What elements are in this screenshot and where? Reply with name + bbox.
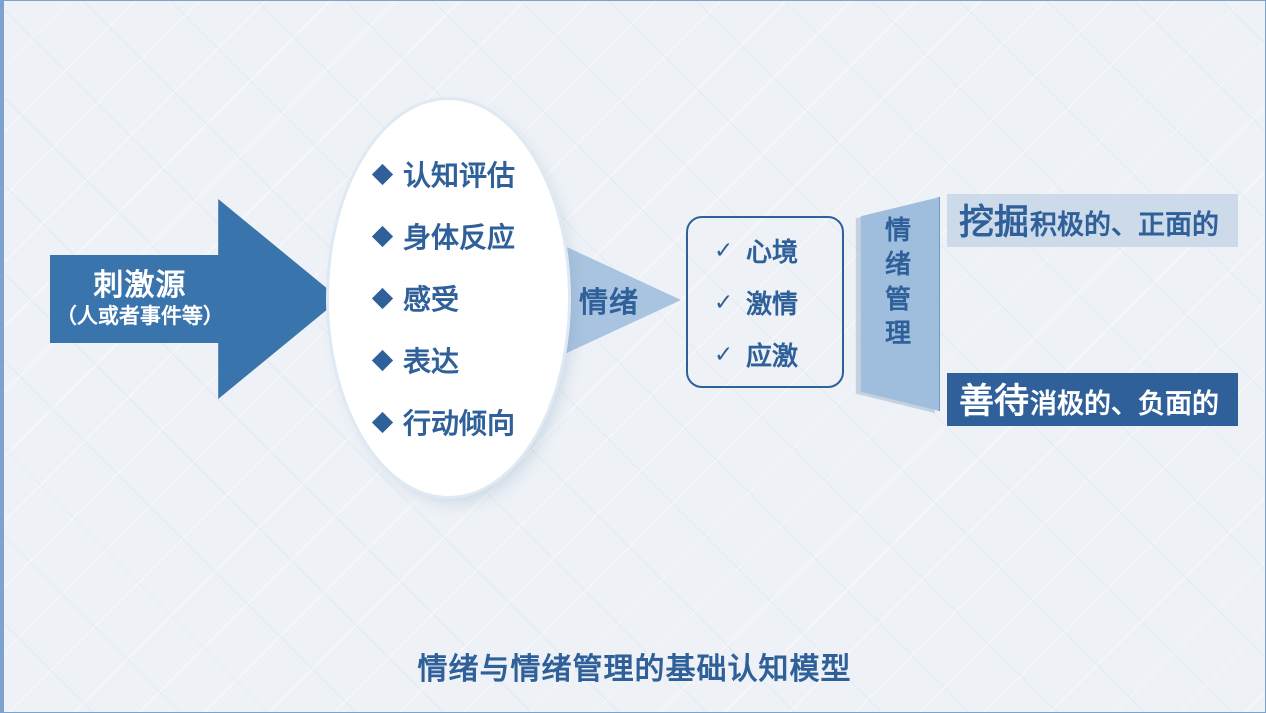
check-icon: ✓ [714,237,736,264]
component-label: 表达 [403,340,459,380]
stimulus-source-text: 刺激源 （人或者事件等） [50,268,230,330]
management-char: 情 [876,213,920,247]
diamond-bullet-icon [372,225,393,246]
positive-outcome-text: 积极的、正面的 [1030,203,1219,242]
negative-outcome-box: 善待 消极的、负面的 [947,373,1238,426]
emotion-type-label: 应激 [746,336,798,373]
emotion-types-list: ✓ 心境 ✓ 激情 ✓ 应激 [688,224,842,380]
emotion-management-label: 情 绪 管 理 [876,213,920,350]
positive-outcome-lead: 挖掘 [959,194,1029,245]
component-label: 身体反应 [403,216,515,256]
slide-canvas: 刺激源 （人或者事件等） 情绪 认知评估 身体反应 感受 表达 [0,0,1266,713]
diamond-bullet-icon [372,349,393,370]
negative-outcome-text: 消极的、负面的 [1030,382,1219,421]
diamond-bullet-icon [372,163,393,184]
list-item: ✓ 心境 [688,224,842,276]
emotion-types-box: ✓ 心境 ✓ 激情 ✓ 应激 [686,216,844,388]
stimulus-source-arrow: 刺激源 （人或者事件等） [50,199,340,399]
emotion-label: 情绪 [579,279,639,321]
list-item: ✓ 应激 [688,328,842,380]
stimulus-source-subtitle: （人或者事件等） [50,305,230,330]
emotion-components-ellipse: 认知评估 身体反应 感受 表达 行动倾向 [331,102,566,494]
list-item: 身体反应 [331,205,566,267]
check-icon: ✓ [714,289,736,316]
list-item: 感受 [331,267,566,329]
stimulus-source-title: 刺激源 [50,268,230,303]
list-item: ✓ 激情 [688,276,842,328]
component-label: 行动倾向 [403,402,515,442]
management-char: 理 [876,316,920,350]
emotion-type-label: 激情 [746,284,798,321]
management-char: 绪 [876,247,920,281]
check-icon: ✓ [714,341,736,368]
list-item: 认知评估 [331,143,566,205]
list-item: 表达 [331,329,566,391]
management-char: 管 [876,282,920,316]
emotion-type-label: 心境 [746,232,798,269]
positive-outcome-box: 挖掘 积极的、正面的 [947,194,1238,247]
list-item: 行动倾向 [331,391,566,453]
emotion-components-list: 认知评估 身体反应 感受 表达 行动倾向 [331,143,566,453]
page-title: 情绪与情绪管理的基础认知模型 [4,644,1265,688]
diamond-bullet-icon [372,411,393,432]
component-label: 认知评估 [403,154,515,194]
diamond-bullet-icon [372,287,393,308]
negative-outcome-lead: 善待 [959,373,1029,424]
component-label: 感受 [403,278,459,318]
